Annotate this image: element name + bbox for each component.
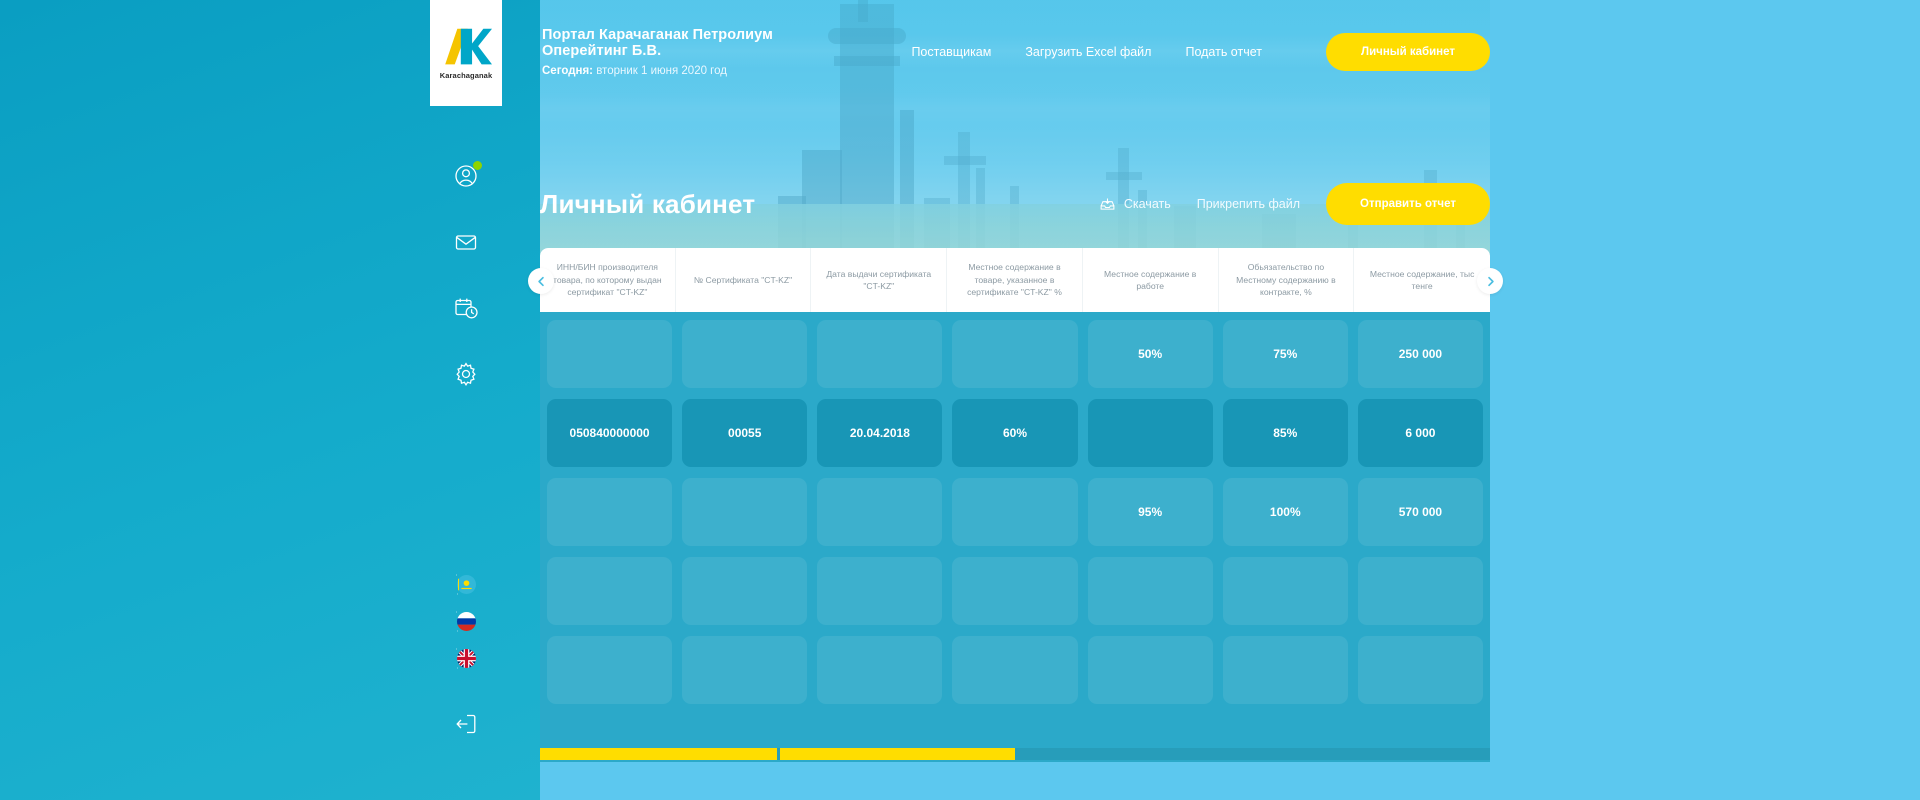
cell-certificate-date[interactable] <box>817 557 942 625</box>
column-header-inn-bin: ИНН/БИН производителя товара, по котором… <box>540 248 676 312</box>
nav-item-suppliers[interactable]: Поставщикам <box>911 45 991 59</box>
cell-local-content-goods[interactable] <box>952 320 1077 388</box>
cell-inn-bin[interactable] <box>547 557 672 625</box>
cell-certificate-number[interactable] <box>682 320 807 388</box>
cell-certificate-number[interactable] <box>682 636 807 704</box>
nav-item-submit-report[interactable]: Подать отчет <box>1185 45 1262 59</box>
cabinet-header-row: Личный кабинет Скачать Прикрепить файл О… <box>540 178 1490 230</box>
table-row[interactable]: 50% 75% 250 000 <box>547 320 1483 388</box>
table-row[interactable]: 95% 100% 570 000 <box>547 478 1483 546</box>
table-row[interactable] <box>547 557 1483 625</box>
download-label: Скачать <box>1124 197 1171 211</box>
sidebar-language-kz[interactable] <box>457 575 476 594</box>
logo-wordmark: Karachaganak <box>440 71 492 80</box>
cell-local-content-goods[interactable]: 60% <box>952 399 1077 467</box>
attach-file-link[interactable]: Прикрепить файл <box>1197 197 1300 211</box>
left-sidebar <box>430 106 502 800</box>
background-right-panel <box>1490 0 1920 800</box>
flag-united-kingdom-icon <box>457 649 476 668</box>
column-header-local-content-work: Местное содержание в работе <box>1083 248 1219 312</box>
table-scroll-left-button[interactable] <box>528 268 554 294</box>
scrollbar-thumb-right[interactable] <box>780 748 1015 760</box>
top-navigation-bar: Портал Карачаганак Петролиум Оперейтинг … <box>540 0 1490 104</box>
column-header-local-content-goods: Местное содержание в товаре, указанное в… <box>947 248 1083 312</box>
cell-certificate-date[interactable]: 20.04.2018 <box>817 399 942 467</box>
personal-cabinet-button[interactable]: Личный кабинет <box>1326 33 1490 71</box>
chevron-left-icon <box>536 276 547 287</box>
chevron-right-icon <box>1485 276 1496 287</box>
flag-kazakhstan-icon <box>457 575 476 594</box>
sidebar-language-en[interactable] <box>457 649 476 668</box>
cell-certificate-number[interactable] <box>682 478 807 546</box>
cell-certificate-date[interactable] <box>817 636 942 704</box>
cell-contract-obligation[interactable] <box>1223 557 1348 625</box>
column-header-local-content-tenge: Местное содержание, тыс тенге <box>1354 248 1490 312</box>
cell-local-content-work[interactable]: 50% <box>1088 320 1213 388</box>
scrollbar-thumb-left[interactable] <box>540 748 777 760</box>
main-menu: Поставщикам Загрузить Excel файл Подать … <box>911 33 1490 71</box>
download-tray-icon <box>1099 196 1116 213</box>
table-row[interactable]: 050840000000 00055 20.04.2018 60% 85% 6 … <box>547 399 1483 467</box>
sidebar-item-profile[interactable] <box>444 154 488 198</box>
gear-icon <box>453 361 479 387</box>
cell-local-content-tenge[interactable] <box>1358 636 1483 704</box>
cell-local-content-goods[interactable] <box>952 557 1077 625</box>
cell-local-content-tenge[interactable]: 570 000 <box>1358 478 1483 546</box>
brand-block: Портал Карачаганак Петролиум Оперейтинг … <box>542 27 847 77</box>
cell-contract-obligation[interactable]: 75% <box>1223 320 1348 388</box>
cell-local-content-tenge[interactable]: 250 000 <box>1358 320 1483 388</box>
cell-certificate-date[interactable] <box>817 320 942 388</box>
logout-icon <box>453 711 479 737</box>
flag-russia-icon <box>457 612 476 631</box>
today-label: Сегодня: <box>542 65 593 77</box>
send-report-button[interactable]: Отправить отчет <box>1326 183 1490 225</box>
report-table-panel: ИНН/БИН производителя товара, по котором… <box>540 248 1490 762</box>
download-link[interactable]: Скачать <box>1099 196 1171 213</box>
column-header-certificate-number: № Сертификата "CT-KZ" <box>676 248 812 312</box>
nav-item-upload-excel[interactable]: Загрузить Excel файл <box>1025 45 1151 59</box>
horizontal-scrollbar[interactable] <box>540 748 1490 760</box>
attach-file-label: Прикрепить файл <box>1197 197 1300 211</box>
cell-local-content-work[interactable] <box>1088 557 1213 625</box>
cell-inn-bin[interactable] <box>547 636 672 704</box>
sidebar-item-settings[interactable] <box>444 352 488 396</box>
portal-title: Портал Карачаганак Петролиум Оперейтинг … <box>542 27 847 59</box>
profile-notification-badge <box>473 161 482 170</box>
cell-certificate-number[interactable] <box>682 557 807 625</box>
cell-certificate-number[interactable]: 00055 <box>682 399 807 467</box>
sidebar-item-schedule[interactable] <box>444 286 488 330</box>
cell-local-content-goods[interactable] <box>952 478 1077 546</box>
cell-local-content-tenge[interactable]: 6 000 <box>1358 399 1483 467</box>
sidebar-item-messages[interactable] <box>444 220 488 264</box>
calendar-clock-icon <box>453 295 479 321</box>
table-body: 50% 75% 250 000 050840000000 00055 20.04… <box>540 312 1490 704</box>
page-root: Портал Карачаганак Петролиум Оперейтинг … <box>0 0 1920 800</box>
sidebar-language-ru[interactable] <box>457 612 476 631</box>
table-scroll-right-button[interactable] <box>1477 268 1503 294</box>
cell-inn-bin[interactable] <box>547 320 672 388</box>
cell-certificate-date[interactable] <box>817 478 942 546</box>
cell-local-content-goods[interactable] <box>952 636 1077 704</box>
column-header-certificate-date: Дата выдачи сертификата "CT-KZ" <box>811 248 947 312</box>
cell-local-content-work[interactable] <box>1088 399 1213 467</box>
cell-contract-obligation[interactable]: 100% <box>1223 478 1348 546</box>
cabinet-actions: Скачать Прикрепить файл Отправить отчет <box>1099 183 1490 225</box>
cell-local-content-tenge[interactable] <box>1358 557 1483 625</box>
cell-inn-bin[interactable] <box>547 478 672 546</box>
cell-contract-obligation[interactable] <box>1223 636 1348 704</box>
karachaganak-logo-icon <box>440 26 492 68</box>
column-header-contract-obligation: Обьязательство по Местному содержанию в … <box>1219 248 1355 312</box>
envelope-icon <box>453 229 479 255</box>
today-line: Сегодня: вторник 1 июня 2020 год <box>542 65 847 77</box>
table-header-row: ИНН/БИН производителя товара, по котором… <box>540 248 1490 312</box>
page-title: Личный кабинет <box>540 189 755 220</box>
cell-local-content-work[interactable] <box>1088 636 1213 704</box>
cell-inn-bin[interactable]: 050840000000 <box>547 399 672 467</box>
logo-card[interactable]: Karachaganak <box>430 0 502 106</box>
sidebar-item-logout[interactable] <box>444 702 488 746</box>
cell-local-content-work[interactable]: 95% <box>1088 478 1213 546</box>
table-row[interactable] <box>547 636 1483 704</box>
today-value: вторник 1 июня 2020 год <box>596 65 727 77</box>
cell-contract-obligation[interactable]: 85% <box>1223 399 1348 467</box>
